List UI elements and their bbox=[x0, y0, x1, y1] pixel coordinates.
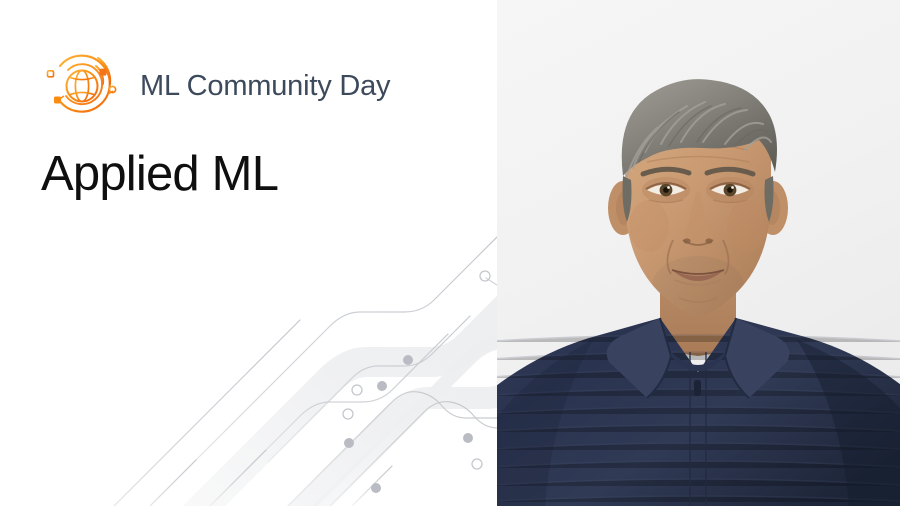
presentation-slide: ML Community Day Applied ML bbox=[0, 0, 900, 506]
session-title: Applied ML bbox=[41, 146, 278, 202]
speaker-portrait bbox=[497, 0, 900, 506]
brand-name: ML Community Day bbox=[140, 70, 390, 103]
circuit-node-dots bbox=[344, 355, 473, 493]
globe-orbit-icon bbox=[40, 44, 124, 128]
left-content-panel: ML Community Day Applied ML bbox=[0, 0, 497, 506]
brand-lockup: ML Community Day bbox=[40, 44, 390, 128]
circuit-node-rings bbox=[343, 271, 490, 469]
